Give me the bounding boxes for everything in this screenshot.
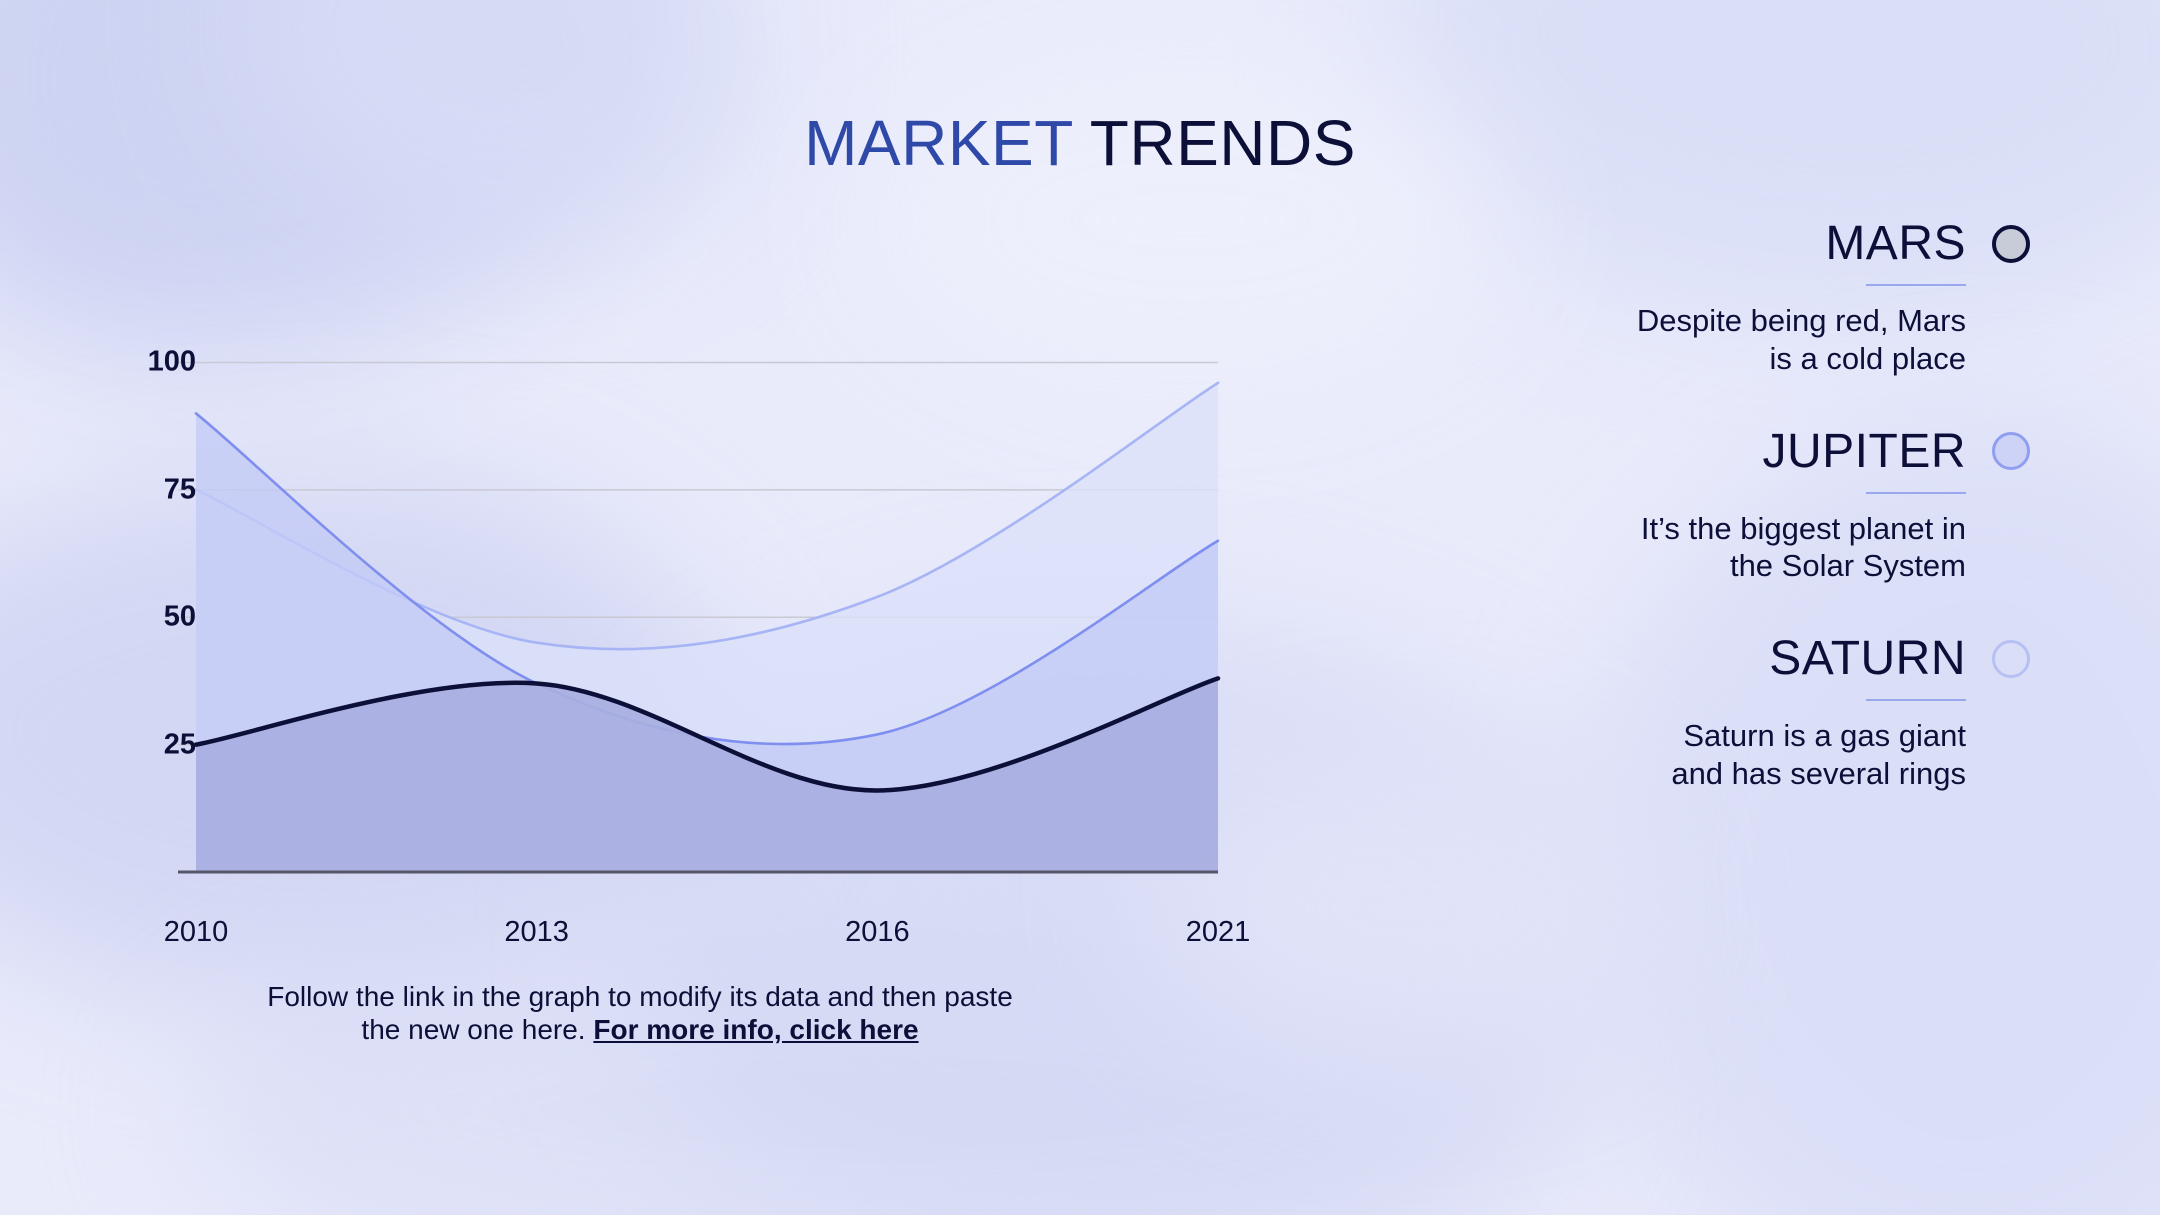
y-axis-tick-label: 50 <box>86 601 196 634</box>
legend-divider <box>1866 492 1966 494</box>
more-info-link[interactable]: For more info, click here <box>593 1014 918 1045</box>
slide-canvas: MARKET TRENDS 100755025 2010201320162021… <box>0 0 2160 1215</box>
x-axis-tick-label: 2013 <box>504 916 569 949</box>
legend-item-description: Despite being red, Mars is a cold place <box>1400 302 2030 378</box>
circle-icon <box>1992 225 2030 263</box>
legend-item-description: Saturn is a gas giant and has several ri… <box>1400 717 2030 793</box>
y-axis-tick-label: 75 <box>86 473 196 506</box>
x-axis-tick-label: 2010 <box>164 916 229 949</box>
legend-item-title: MARS <box>1825 216 1966 271</box>
circle-icon <box>1992 432 2030 470</box>
legend-item-title: JUPITER <box>1762 424 1966 479</box>
planet-legend: MARSDespite being red, Mars is a cold pl… <box>1400 216 2030 839</box>
caption-line-2-prefix: the new one here. <box>361 1014 593 1045</box>
area-chart[interactable]: 100755025 2010201320162021 <box>120 300 1260 920</box>
caption-line-1: Follow the link in the graph to modify i… <box>267 981 1013 1012</box>
x-axis-tick-label: 2021 <box>1186 916 1251 949</box>
x-axis-tick-label: 2016 <box>845 916 910 949</box>
legend-divider <box>1866 284 1966 286</box>
y-axis: 100755025 <box>120 300 196 880</box>
legend-item-jupiter[interactable]: JUPITERIt’s the biggest planet in the So… <box>1400 424 2030 586</box>
legend-item-mars[interactable]: MARSDespite being red, Mars is a cold pl… <box>1400 216 2030 378</box>
page-title: MARKET TRENDS <box>0 106 2160 180</box>
legend-divider <box>1866 699 1966 701</box>
circle-icon <box>1992 640 2030 678</box>
legend-item-header: SATURN <box>1400 631 2030 686</box>
chart-plot-area[interactable] <box>120 300 1260 900</box>
legend-item-header: MARS <box>1400 216 2030 271</box>
y-axis-tick-label: 25 <box>86 728 196 761</box>
legend-item-saturn[interactable]: SATURNSaturn is a gas giant and has seve… <box>1400 631 2030 793</box>
legend-item-header: JUPITER <box>1400 424 2030 479</box>
page-title-accent: MARKET <box>804 107 1073 179</box>
chart-caption: Follow the link in the graph to modify i… <box>120 980 1160 1046</box>
x-axis: 2010201320162021 <box>196 900 1218 950</box>
page-title-main: TRENDS <box>1073 107 1356 179</box>
y-axis-tick-label: 100 <box>86 346 196 379</box>
legend-item-title: SATURN <box>1769 631 1966 686</box>
legend-item-description: It’s the biggest planet in the Solar Sys… <box>1400 510 2030 586</box>
